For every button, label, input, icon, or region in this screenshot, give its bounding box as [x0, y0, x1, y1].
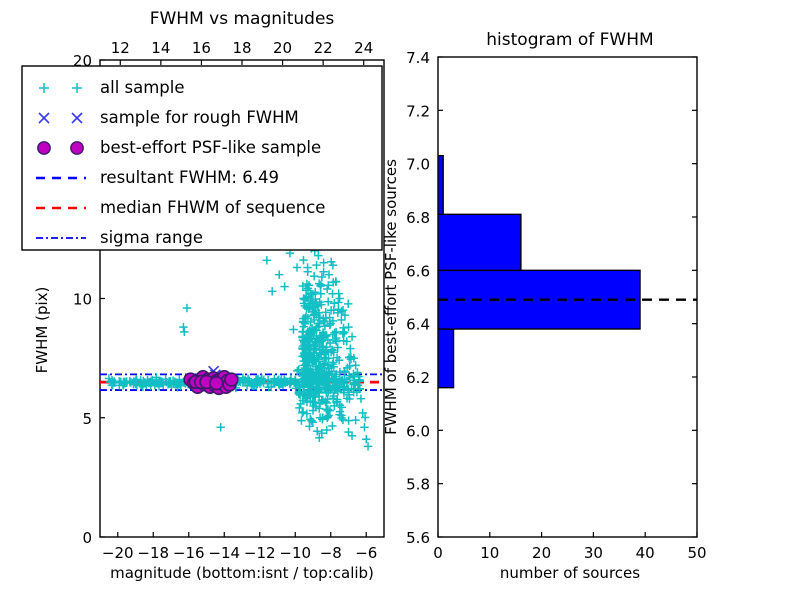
legend-entry-label: sample for rough FWHM [100, 108, 299, 127]
left-xtick-label: −14 [208, 544, 240, 562]
right-ytick-label: 5.8 [406, 476, 430, 494]
histogram-bar [438, 329, 454, 388]
right-ytick-label: 7.2 [406, 102, 430, 120]
right-ytick-label: 6.2 [406, 369, 430, 387]
right-panel-title: histogram of FWHM [486, 30, 653, 50]
left-xtick-label: −6 [355, 544, 377, 562]
left-top-xtick-label: 12 [111, 39, 130, 57]
right-ytick-label: 7.4 [406, 49, 430, 67]
right-xtick-label: 10 [480, 544, 499, 562]
right-ytick-label: 6.8 [406, 209, 430, 227]
matplotlib-figure: FWHM vs magnitudes −20−18−16−14−12−10−8−… [0, 0, 800, 600]
right-xtick-label: 40 [636, 544, 655, 562]
left-yaxis-label: FWHM (pix) [33, 287, 51, 374]
left-xtick-label: −12 [244, 544, 276, 562]
legend-entry-label: best-effort PSF-like sample [100, 138, 321, 157]
left-xtick-label: −16 [173, 544, 205, 562]
histogram-bar [438, 214, 521, 270]
histogram-bar [438, 156, 443, 215]
right-xtick-label: 0 [433, 544, 443, 562]
right-ytick-label: 6.6 [406, 262, 430, 280]
left-ytick-label: 0 [82, 529, 92, 547]
right-xtick-label: 20 [532, 544, 551, 562]
right-xaxis-label: number of sources [500, 564, 640, 582]
left-ytick-label: 5 [82, 410, 92, 428]
legend-entry-label: resultant FWHM: 6.49 [100, 168, 279, 187]
series-best-effort-psf-like-sample [184, 371, 238, 395]
left-top-xtick-label: 14 [151, 39, 170, 57]
legend-box [22, 66, 382, 250]
right-yaxis-label: FWHM of best-effort PSF-like sources [382, 159, 400, 435]
left-panel-legend[interactable]: all samplesample for rough FWHMbest-effo… [22, 66, 382, 250]
figure-canvas: FWHM vs magnitudes −20−18−16−14−12−10−8−… [0, 0, 800, 600]
left-ytick-label: 10 [73, 291, 92, 309]
left-top-xtick-label: 24 [354, 39, 373, 57]
legend-entry-label: all sample [100, 78, 185, 97]
legend-entry-label: sigma range [100, 228, 203, 247]
left-panel-title: FWHM vs magnitudes [150, 9, 335, 29]
marker-circle [225, 373, 238, 386]
left-top-xtick-label: 22 [314, 39, 333, 57]
left-xtick-label: −20 [102, 544, 134, 562]
right-ytick-label: 7.0 [406, 156, 430, 174]
left-top-xtick-label: 16 [192, 39, 211, 57]
legend-entry-label: median FHWM of sequence [100, 198, 325, 217]
left-xtick-label: −18 [137, 544, 169, 562]
right-xtick-label: 50 [687, 544, 706, 562]
left-top-xtick-label: 18 [232, 39, 251, 57]
right-ytick-label: 5.6 [406, 529, 430, 547]
left-top-xtick-label: 20 [273, 39, 292, 57]
left-xtick-label: −8 [320, 544, 342, 562]
left-xaxis-label: magnitude (bottom:isnt / top:calib) [110, 564, 374, 582]
legend-marker-circle [38, 142, 50, 154]
right-xtick-label: 30 [584, 544, 603, 562]
right-ytick-label: 6.0 [406, 422, 430, 440]
marker-circle [210, 377, 223, 390]
left-xtick-label: −10 [279, 544, 311, 562]
legend-marker-circle [71, 142, 83, 154]
right-ytick-label: 6.4 [406, 316, 430, 334]
